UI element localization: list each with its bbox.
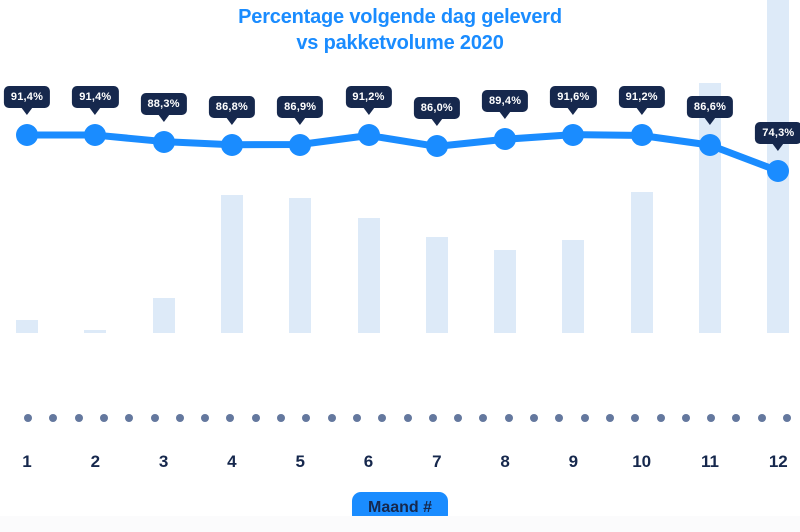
- x-axis-label-11: 11: [701, 452, 719, 472]
- x-axis-label-6: 6: [364, 452, 373, 472]
- x-axis-labels: 123456789101112: [0, 452, 800, 478]
- x-axis-label-3: 3: [159, 452, 168, 472]
- value-badge-month-6: 91,2%: [345, 86, 391, 108]
- value-badge-month-11: 86,6%: [687, 96, 733, 118]
- plot-area: 91,4%91,4%88,3%86,8%86,9%91,2%86,0%89,4%…: [0, 0, 800, 440]
- x-axis-label-4: 4: [227, 452, 236, 472]
- x-axis-label-1: 1: [22, 452, 31, 472]
- value-badge-month-4: 86,8%: [209, 96, 255, 118]
- x-axis-label-9: 9: [569, 452, 578, 472]
- data-point-month-4[interactable]: [221, 134, 243, 156]
- data-point-month-1[interactable]: [16, 124, 38, 146]
- value-badge-month-12: 74,3%: [755, 122, 800, 144]
- chart-container: Percentage volgende dag geleverd vs pakk…: [0, 0, 800, 532]
- value-badge-month-7: 86,0%: [414, 97, 460, 119]
- value-badge-month-9: 91,6%: [550, 86, 596, 108]
- x-axis-label-10: 10: [632, 452, 651, 472]
- value-badge-month-10: 91,2%: [619, 86, 665, 108]
- data-point-month-3[interactable]: [153, 131, 175, 153]
- data-point-month-6[interactable]: [358, 124, 380, 146]
- x-axis-label-5: 5: [295, 452, 304, 472]
- x-axis-label-12: 12: [769, 452, 788, 472]
- data-point-month-9[interactable]: [562, 124, 584, 146]
- x-axis-label-2: 2: [91, 452, 100, 472]
- data-point-month-10[interactable]: [631, 124, 653, 146]
- value-badge-month-1: 91,4%: [4, 86, 50, 108]
- value-badge-month-3: 88,3%: [140, 93, 186, 115]
- data-point-month-5[interactable]: [289, 134, 311, 156]
- data-point-month-11[interactable]: [699, 134, 721, 156]
- line-series-path: [0, 0, 800, 440]
- x-axis-label-8: 8: [500, 452, 509, 472]
- value-badge-month-8: 89,4%: [482, 90, 528, 112]
- x-axis-label-7: 7: [432, 452, 441, 472]
- value-badge-month-2: 91,4%: [72, 86, 118, 108]
- value-badge-month-5: 86,9%: [277, 96, 323, 118]
- bottom-band: [0, 516, 800, 532]
